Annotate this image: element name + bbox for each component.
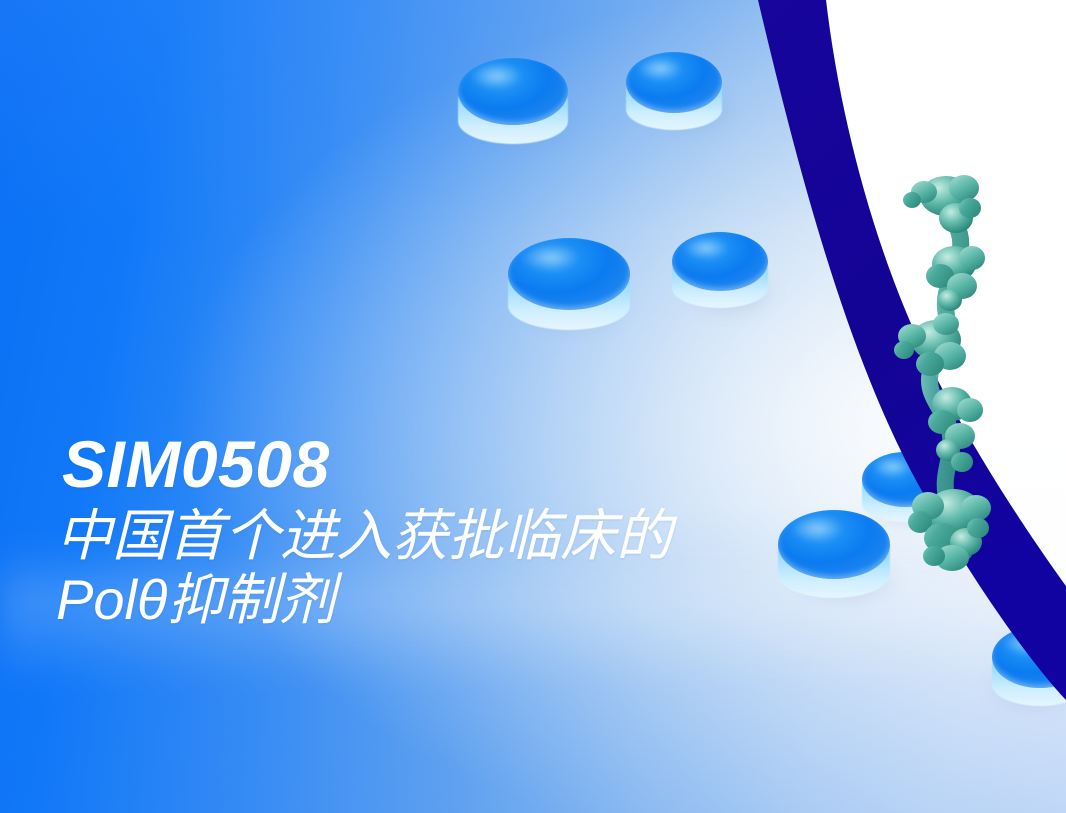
pill-gloss-highlight: [871, 456, 912, 477]
page-subtitle: 中国首个进入获批临床的 Polθ抑制剂: [56, 504, 876, 632]
pill-top-right: [626, 52, 722, 130]
page-subtitle-line-2: Polθ抑制剂: [56, 568, 876, 632]
pill-bottom-right: [992, 626, 1066, 706]
pill-gloss-highlight: [469, 63, 522, 89]
poster-canvas: SIM0508 中国首个进入获批临床的 Polθ抑制剂: [0, 0, 1066, 813]
page-subtitle-line-1: 中国首个进入获批临床的: [56, 504, 876, 568]
page-title: SIM0508: [62, 430, 876, 500]
pill-gloss-highlight: [520, 244, 579, 272]
pill-gloss-highlight: [1002, 631, 1048, 655]
pill-gloss-highlight: [682, 237, 728, 260]
pill-mid-right: [672, 232, 768, 308]
pill-top-left: [458, 58, 568, 144]
headline-block: SIM0508 中国首个进入获批临床的 Polθ抑制剂: [56, 430, 876, 632]
pill-mid-left: [508, 238, 630, 330]
pill-gloss-highlight: [636, 57, 682, 80]
